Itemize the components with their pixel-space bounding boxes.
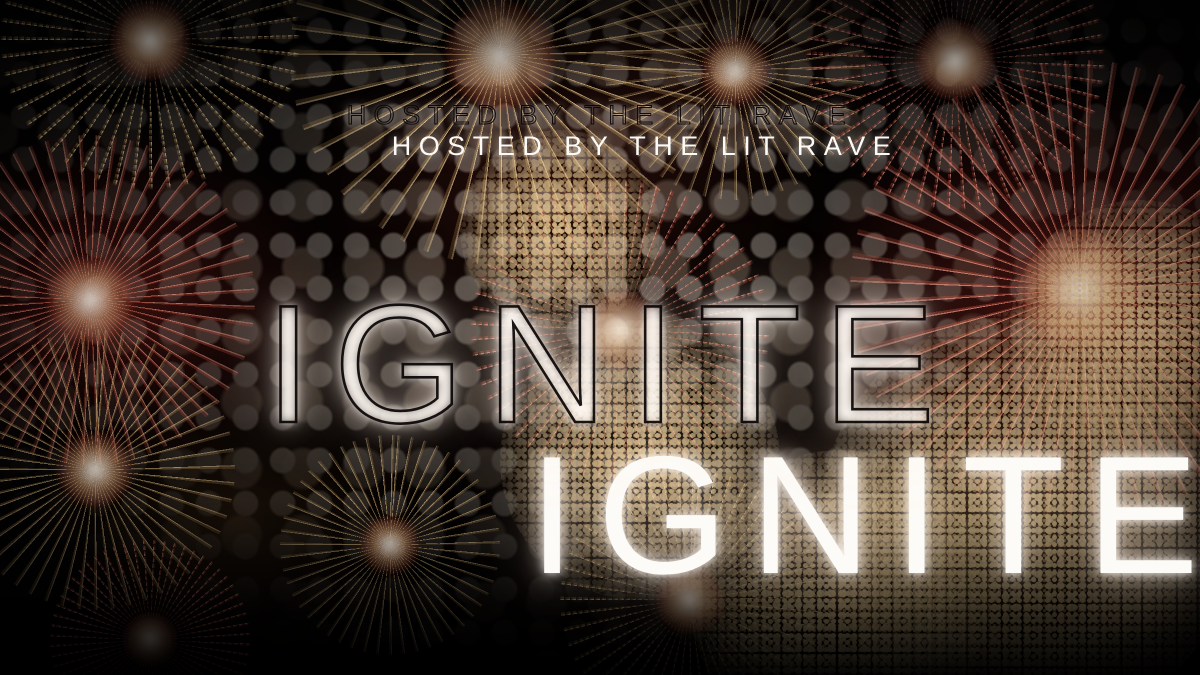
event-title-inline: IGNITE [0, 289, 1200, 440]
host-kicker: HOSTED BY THE LIT RAVE HOSTED BY THE LIT… [302, 100, 899, 224]
flyer-content: HOSTED BY THE LIT RAVE HOSTED BY THE LIT… [0, 0, 1200, 675]
event-title: IGNITE IGNITE [0, 289, 1200, 675]
host-kicker-inline: HOSTED BY THE LIT RAVE [302, 100, 899, 131]
event-title-text: IGNITE [529, 421, 1200, 609]
event-flyer: HOSTED BY THE LIT RAVE HOSTED BY THE LIT… [0, 0, 1200, 675]
host-kicker-text: HOSTED BY THE LIT RAVE [392, 131, 899, 161]
logo-wrapper: IGNITE IGNITE [0, 289, 1200, 675]
